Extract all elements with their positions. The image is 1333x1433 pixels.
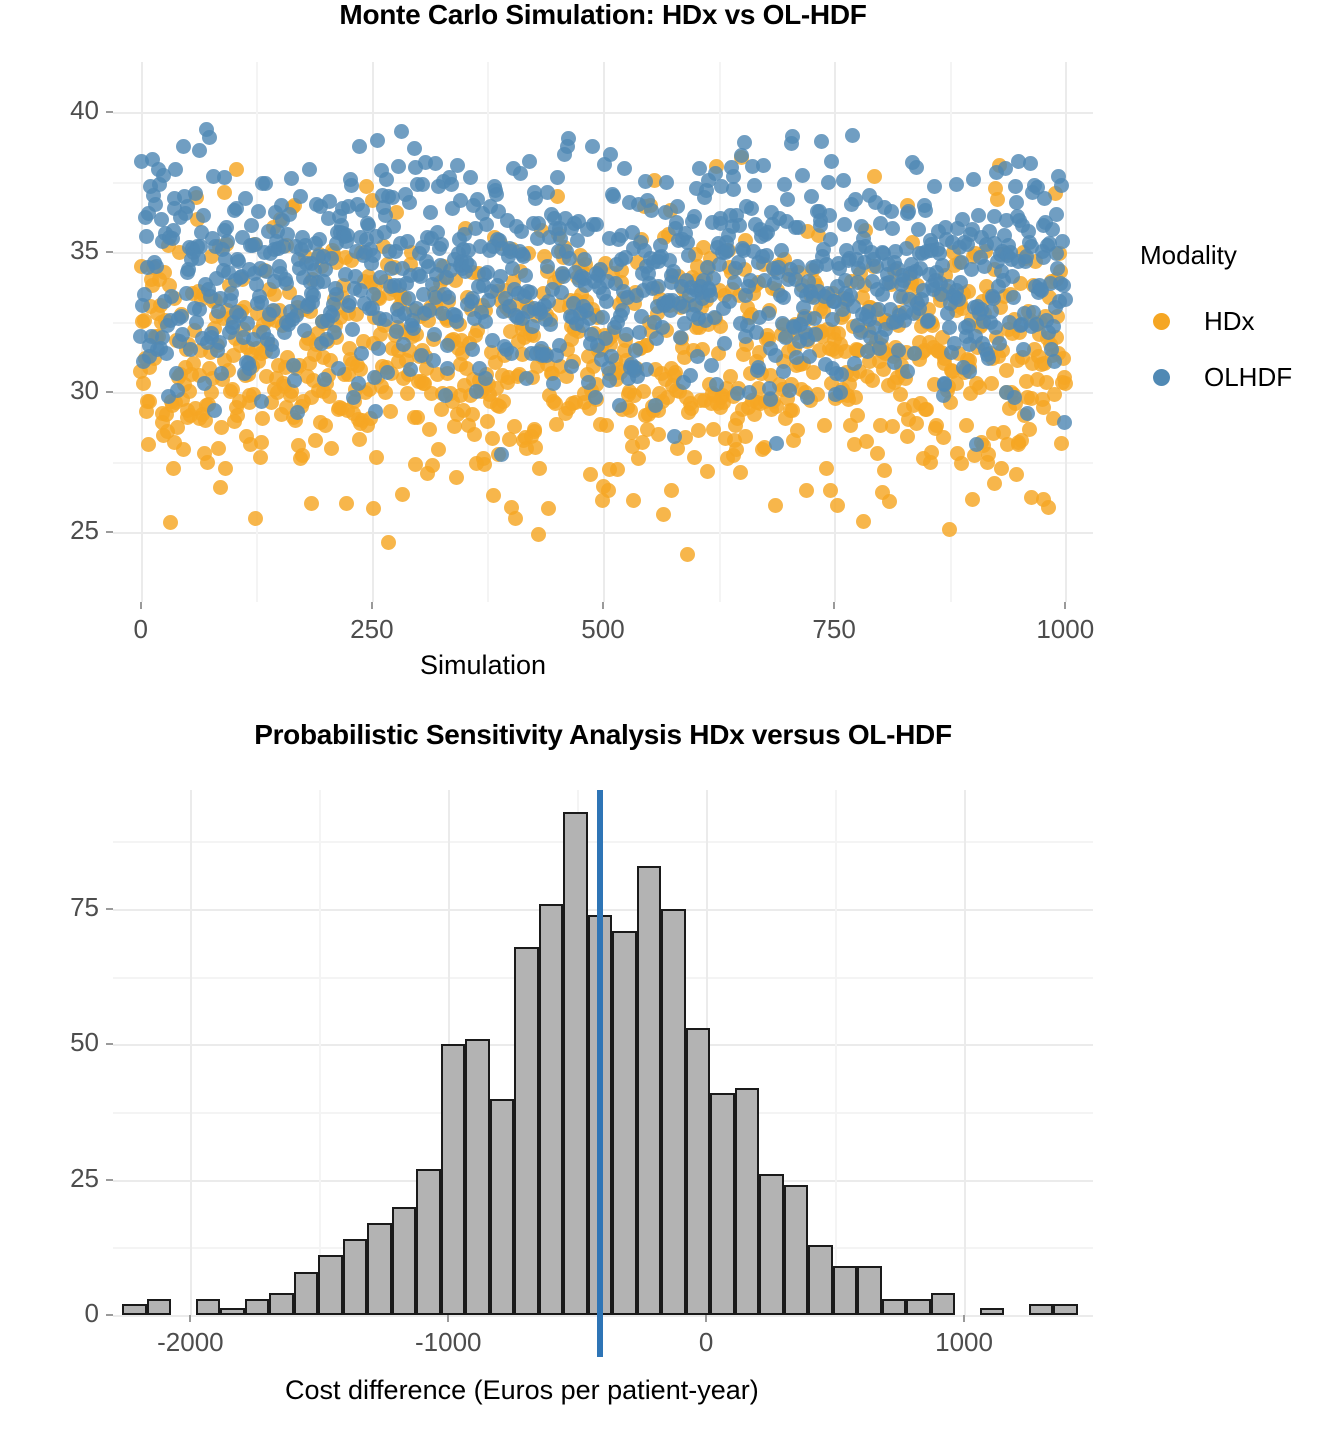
histogram-bar [759,1174,784,1315]
histogram-panel: Probabilistic Sensitivity Analysis HDx v… [0,0,1333,1433]
histogram-bar [686,1028,711,1315]
histogram-bar [931,1293,956,1315]
histogram-plot-area [113,790,1093,1315]
histogram-bar [269,1293,294,1315]
histogram-x-tick-mark [963,1315,965,1322]
histogram-y-tick-mark [106,1043,113,1045]
histogram-bar [441,1044,466,1315]
histogram-bar [392,1207,417,1315]
histogram-y-tick-label: 75 [70,892,99,923]
histogram-y-tick-label: 0 [85,1298,99,1329]
histogram-bar [980,1308,1005,1315]
histogram-x-tick-label: 0 [699,1327,713,1358]
histogram-gridline-x-minor [835,790,837,1315]
histogram-bar [808,1245,833,1315]
histogram-x-tick-mark [447,1315,449,1322]
histogram-bar [318,1255,343,1315]
histogram-x-tick-label: 1000 [935,1327,993,1358]
histogram-bar [1029,1304,1054,1315]
histogram-bar [343,1239,368,1315]
histogram-x-tick-mark [189,1315,191,1322]
histogram-y-tick-label: 50 [70,1027,99,1058]
histogram-bar [1053,1304,1078,1315]
histogram-gridline-x [190,790,192,1315]
histogram-x-axis-title: Cost difference (Euros per patient-year) [285,1375,759,1406]
histogram-x-tick-mark [705,1315,707,1322]
histogram-gridline-x [964,790,966,1315]
histogram-bar [367,1223,392,1315]
histogram-bar [563,812,588,1315]
histogram-bar [196,1299,221,1315]
histogram-bar [833,1266,858,1315]
histogram-reference-line [597,790,603,1357]
histogram-bar [465,1039,490,1315]
histogram-y-tick-label: 25 [70,1163,99,1194]
histogram-bar [416,1169,441,1315]
histogram-bar [514,947,539,1315]
histogram-bar [710,1093,735,1315]
histogram-x-tick-label: -2000 [157,1327,224,1358]
histogram-bar [857,1266,882,1315]
histogram-bar [122,1304,147,1315]
histogram-bar [147,1299,172,1315]
histogram-bar [245,1299,270,1315]
histogram-bar [612,931,637,1315]
histogram-y-tick-mark [106,1179,113,1181]
histogram-bar [784,1185,809,1315]
histogram-bar [661,909,686,1315]
histogram-bar [539,904,564,1315]
histogram-y-tick-mark [106,1314,113,1316]
histogram-gridline-x-minor [319,790,321,1315]
figure-panel-container: Monte Carlo Simulation: HDx vs OL-HDF 25… [0,0,1333,1433]
histogram-bar [906,1299,931,1315]
histogram-bar [294,1272,319,1315]
histogram-y-tick-mark [106,908,113,910]
histogram-x-tick-label: -1000 [415,1327,482,1358]
histogram-chart-title: Probabilistic Sensitivity Analysis HDx v… [113,718,1093,752]
histogram-bar [637,866,662,1315]
histogram-bar [220,1308,245,1315]
histogram-bar [882,1299,907,1315]
histogram-bar [490,1099,515,1315]
histogram-bar [735,1088,760,1315]
